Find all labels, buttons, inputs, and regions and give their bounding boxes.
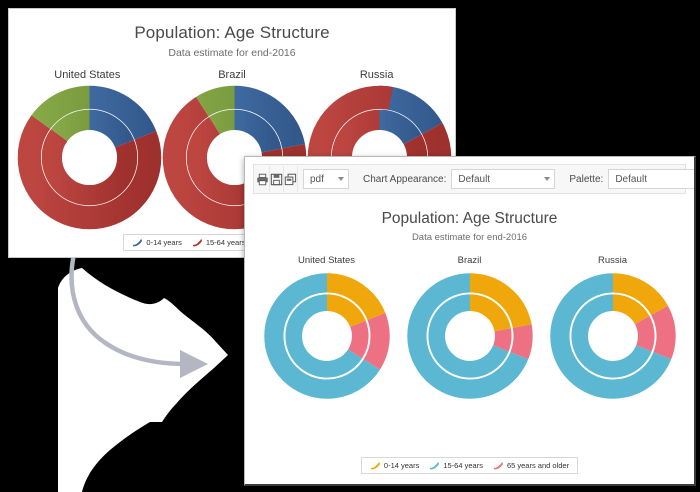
chart-appearance-select[interactable]: Default [451, 169, 555, 189]
palette-value: Default [615, 174, 647, 185]
legend-label: 15-64 years [443, 461, 483, 470]
print-button[interactable] [256, 166, 270, 192]
front-chart-subtitle: Data estimate for end-2016 [245, 232, 694, 243]
legend-item[interactable]: 0-14 years [370, 461, 419, 470]
restyled-chart-window[interactable]: pdf Chart Appearance: Default Palette: D… [244, 156, 696, 486]
legend-item[interactable]: 0-14 years [132, 238, 181, 247]
front-panel-label: Russia [545, 255, 680, 266]
chart-toolbar: pdf Chart Appearance: Default Palette: D… [253, 164, 686, 194]
chevron-down-icon [338, 177, 344, 181]
legend-label: 65 years and older [507, 461, 569, 470]
legend-item[interactable]: 15-64 years [192, 238, 246, 247]
export-button[interactable] [284, 166, 298, 192]
front-donut-panel-row: United States Brazil [245, 255, 694, 405]
back-donut-united-states[interactable] [17, 85, 162, 230]
white-blob-shape [58, 268, 228, 492]
back-us-inner-ring [52, 120, 127, 195]
legend-swatch-icon [429, 461, 440, 470]
legend-swatch-icon [132, 238, 143, 247]
front-donut-russia[interactable] [549, 272, 677, 400]
front-chart-title: Population: Age Structure [245, 210, 694, 228]
back-chart-title: Population: Age Structure [9, 23, 455, 43]
save-button[interactable] [270, 166, 284, 192]
legend-label: 15-64 years [206, 238, 246, 247]
chart-appearance-value: Default [458, 174, 490, 185]
front-donut-united-states[interactable] [263, 272, 391, 400]
legend-label: 0-14 years [146, 238, 181, 247]
transition-arrow-graphic [0, 258, 250, 492]
front-donut-brazil[interactable] [406, 272, 534, 400]
export-copy-icon [284, 173, 297, 186]
arrow-head-icon [180, 350, 208, 378]
legend-swatch-icon [493, 461, 504, 470]
legend-item[interactable]: 15-64 years [429, 461, 483, 470]
printer-icon [256, 173, 269, 186]
back-chart-subtitle: Data estimate for end-2016 [9, 47, 455, 59]
black-canvas-edge [0, 258, 8, 492]
back-panel-label: Brazil [162, 69, 302, 81]
back-panel-label: United States [17, 69, 157, 81]
front-panel-brazil: Brazil [402, 255, 537, 405]
curved-arrow-icon [72, 258, 186, 364]
export-format-select[interactable]: pdf [303, 169, 349, 189]
front-legend-wrap: 0-14 years 15-64 years 65 years and olde… [245, 457, 694, 474]
palette-select[interactable]: Default [608, 169, 696, 189]
export-format-value: pdf [310, 174, 324, 185]
palette-label: Palette: [569, 174, 603, 185]
front-panel-label: Brazil [402, 255, 537, 266]
front-panel-russia: Russia [545, 255, 680, 405]
legend-swatch-icon [370, 461, 381, 470]
front-legend: 0-14 years 15-64 years 65 years and olde… [361, 457, 578, 474]
legend-item[interactable]: 65 years and older [493, 461, 569, 470]
back-panel-label: Russia [307, 69, 447, 81]
chevron-down-icon [544, 177, 550, 181]
legend-swatch-icon [192, 238, 203, 247]
front-br-inner-ring [436, 303, 503, 370]
chart-appearance-label: Chart Appearance: [363, 174, 446, 185]
legend-label: 0-14 years [384, 461, 419, 470]
back-panel-united-states: United States [17, 69, 157, 235]
floppy-save-icon [270, 173, 283, 186]
front-ru-inner-ring [579, 303, 646, 370]
front-panel-united-states: United States [259, 255, 394, 405]
front-panel-label: United States [259, 255, 394, 266]
front-us-inner-ring [293, 303, 360, 370]
